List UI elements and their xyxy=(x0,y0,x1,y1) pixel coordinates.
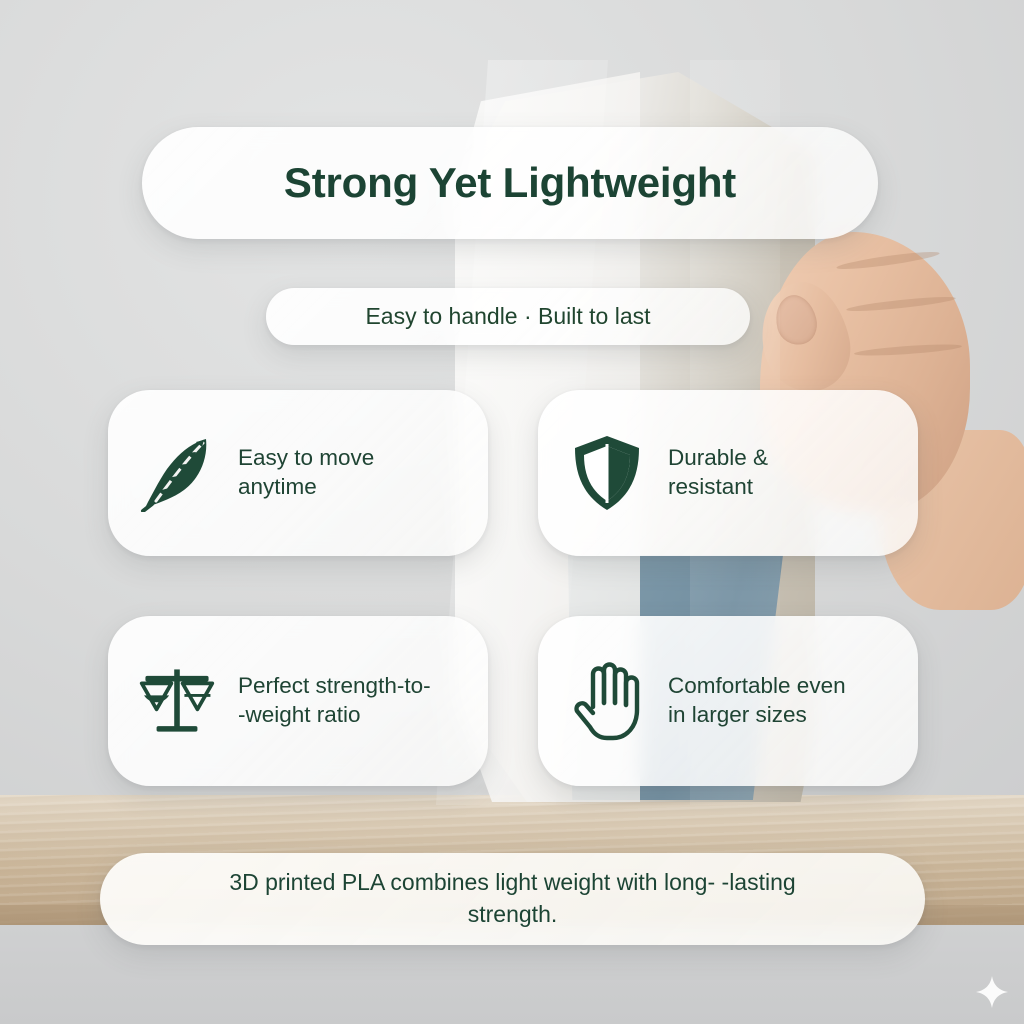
feature-card-label: Comfortable even in larger sizes xyxy=(668,672,846,730)
feature-label-line1: Comfortable even xyxy=(668,673,846,698)
caption-text: 3D printed PLA combines light weight wit… xyxy=(183,867,843,930)
sparkle-icon xyxy=(975,975,1009,1009)
feature-card-strength-to-weight[interactable]: Perfect strength-to- -weight ratio xyxy=(108,616,488,786)
feature-card-label: Perfect strength-to- -weight ratio xyxy=(238,672,431,730)
scales-icon xyxy=(138,661,216,741)
feature-label-line2: anytime xyxy=(238,474,317,499)
feature-label-line1: Easy to move xyxy=(238,445,374,470)
feature-card-durable[interactable]: Durable & resistant xyxy=(538,390,918,556)
feature-label-line1: Perfect strength-to- xyxy=(238,673,431,698)
feature-card-label: Easy to move anytime xyxy=(238,444,374,502)
feature-label-line1: Durable & xyxy=(668,445,768,470)
hand-icon xyxy=(568,661,646,741)
feather-icon xyxy=(138,433,216,513)
caption-pill: 3D printed PLA combines light weight wit… xyxy=(100,853,925,945)
feature-label-line2: resistant xyxy=(668,474,753,499)
caption-line1: 3D printed PLA combines light weight wit… xyxy=(229,869,715,895)
page-subtitle: Easy to handle · Built to last xyxy=(365,303,650,330)
page-title: Strong Yet Lightweight xyxy=(284,159,736,207)
shield-icon xyxy=(568,433,646,513)
feature-label-line2: in larger sizes xyxy=(668,702,807,727)
title-pill: Strong Yet Lightweight xyxy=(142,127,878,239)
feature-label-line2: -weight ratio xyxy=(238,702,361,727)
feature-card-comfortable[interactable]: Comfortable even in larger sizes xyxy=(538,616,918,786)
feature-card-label: Durable & resistant xyxy=(668,444,768,502)
feature-card-easy-to-move[interactable]: Easy to move anytime xyxy=(108,390,488,556)
poster-canvas: Strong Yet Lightweight Easy to handle · … xyxy=(0,0,1024,1024)
subtitle-pill: Easy to handle · Built to last xyxy=(266,288,750,345)
